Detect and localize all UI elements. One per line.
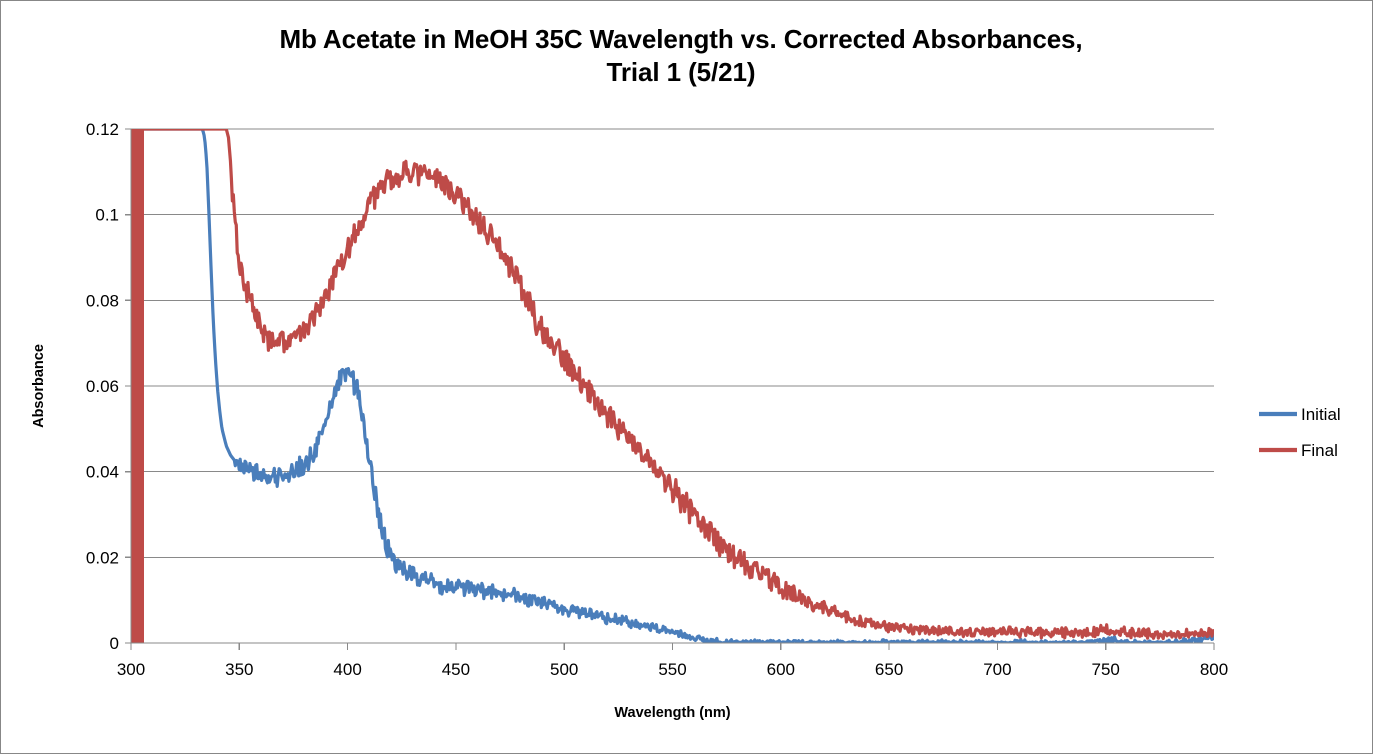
y-axis-title: Absorbance <box>31 344 47 428</box>
x-tick-label: 300 <box>117 660 145 679</box>
x-tick-label: 800 <box>1200 660 1228 679</box>
x-tick-label: 750 <box>1092 660 1120 679</box>
x-tick-label: 600 <box>767 660 795 679</box>
saturated-band-final <box>131 129 144 643</box>
series-line-final <box>131 129 1214 639</box>
chart-container: Mb Acetate in MeOH 35C Wavelength vs. Co… <box>0 0 1373 754</box>
x-tick-label: 450 <box>442 660 470 679</box>
plot-area: 00.020.040.060.080.10.12 300350400450500… <box>1 1 1373 755</box>
legend[interactable]: InitialFinal <box>1259 405 1341 460</box>
legend-label-initial[interactable]: Initial <box>1301 405 1341 424</box>
x-tick-label: 500 <box>550 660 578 679</box>
x-tick-label: 650 <box>875 660 903 679</box>
x-tick-label: 400 <box>333 660 361 679</box>
y-tick-label: 0.02 <box>86 548 119 567</box>
y-axis-tick-labels: 00.020.040.060.080.10.12 <box>86 120 119 653</box>
y-tick-label: 0.1 <box>95 206 119 225</box>
legend-label-final[interactable]: Final <box>1301 441 1338 460</box>
x-axis-title: Wavelength (nm) <box>614 705 730 721</box>
y-tick-label: 0.08 <box>86 291 119 310</box>
y-tick-label: 0.06 <box>86 377 119 396</box>
gridlines <box>131 129 1214 643</box>
x-tick-label: 350 <box>225 660 253 679</box>
axis-ticks <box>125 129 1214 650</box>
x-tick-label: 700 <box>983 660 1011 679</box>
x-tick-label: 550 <box>658 660 686 679</box>
y-tick-label: 0 <box>110 634 119 653</box>
y-tick-label: 0.04 <box>86 463 119 482</box>
x-axis-tick-labels: 300350400450500550600650700750800 <box>117 660 1228 679</box>
y-tick-label: 0.12 <box>86 120 119 139</box>
